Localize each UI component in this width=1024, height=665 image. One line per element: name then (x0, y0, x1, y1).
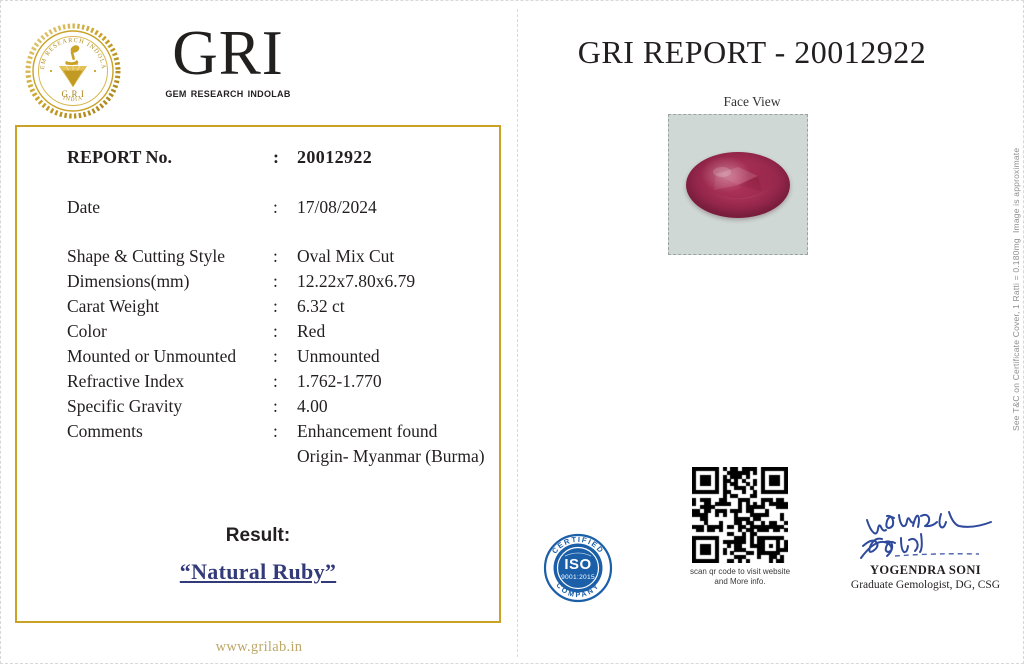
field-value: 1.762-1.770 (297, 369, 487, 394)
report-fields-table: REPORT No. : 20012922 Date : 17/08/2024 … (67, 145, 487, 469)
result-label: Result: (17, 525, 499, 547)
table-row: Dimensions(mm) : 12.22x7.80x6.79 (67, 269, 487, 294)
brand-wordmark: GRI GEM RESEARCH INDOLAB (133, 17, 323, 100)
field-separator: : (273, 419, 297, 444)
table-row: Refractive Index : 1.762-1.770 (67, 369, 487, 394)
field-value: 20012922 (297, 145, 487, 170)
field-value: 4.00 (297, 394, 487, 419)
svg-text:9001:2015: 9001:2015 (561, 574, 595, 581)
field-value: Origin- Myanmar (Burma) (297, 444, 487, 469)
spacer (67, 170, 487, 195)
signature-image (851, 506, 1001, 562)
qr-caption-line1: scan qr code to visit website (687, 567, 793, 577)
gri-seal-icon: GEM RESEARCH INDOLAB INDIA (25, 23, 121, 119)
spacer (67, 220, 487, 244)
field-separator: : (273, 344, 297, 369)
field-value: Enhancement found (297, 419, 487, 444)
certificate-page: GEM RESEARCH INDOLAB INDIA (0, 0, 1024, 664)
qr-caption: scan qr code to visit website and More i… (687, 567, 793, 587)
qr-section: scan qr code to visit website and More i… (687, 467, 793, 587)
field-separator: : (273, 394, 297, 419)
field-label: Comments (67, 419, 273, 444)
qr-code-image[interactable] (692, 467, 788, 563)
table-row: Origin- Myanmar (Burma) (67, 444, 487, 469)
field-separator: : (273, 369, 297, 394)
table-row: Date : 17/08/2024 (67, 195, 487, 220)
field-separator: : (273, 269, 297, 294)
table-row: Mounted or Unmounted : Unmounted (67, 344, 487, 369)
right-panel: GRI REPORT - 20012922 Face View See T&C … (517, 1, 1024, 665)
page-title: GRI REPORT - 20012922 (517, 34, 987, 71)
field-separator: : (273, 145, 297, 170)
field-value: 17/08/2024 (297, 195, 487, 220)
svg-text:G.R.I: G.R.I (62, 89, 85, 99)
svg-text:ISO: ISO (564, 556, 591, 573)
field-separator: : (273, 294, 297, 319)
brand-name: GRI (133, 17, 323, 89)
report-details-box: REPORT No. : 20012922 Date : 17/08/2024 … (15, 125, 501, 623)
result-value: “Natural Ruby” (17, 559, 499, 585)
iso-certified-badge-icon: CERTIFIED COMPANY ISO 9001:2015 (539, 529, 617, 607)
brand-logo-area: GEM RESEARCH INDOLAB INDIA (25, 23, 315, 119)
field-value: Oval Mix Cut (297, 244, 487, 269)
table-row: Color : Red (67, 319, 487, 344)
result-section: Result: “Natural Ruby” (17, 525, 499, 585)
table-row: Specific Gravity : 4.00 (67, 394, 487, 419)
field-separator: : (273, 244, 297, 269)
signatory-title: Graduate Gemologist, DG, CSG (843, 579, 1008, 591)
vertical-note-image: Image is approximate (1011, 148, 1021, 233)
table-row: Shape & Cutting Style : Oval Mix Cut (67, 244, 487, 269)
face-view-label: Face View (517, 94, 987, 110)
qr-caption-line2: and More info. (687, 577, 793, 587)
field-label: Refractive Index (67, 369, 273, 394)
vertical-note-terms: See T&C on Certificate Cover, 1 Ratti = … (1011, 238, 1021, 431)
field-value: 6.32 ct (297, 294, 487, 319)
left-panel: GEM RESEARCH INDOLAB INDIA (1, 1, 517, 665)
field-label: Specific Gravity (67, 394, 273, 419)
signatory-name: YOGENDRA SONI (843, 563, 1008, 578)
field-label: Mounted or Unmounted (67, 344, 273, 369)
table-row: Comments : Enhancement found (67, 419, 487, 444)
gem-facet-lines (686, 152, 790, 218)
field-label: Date (67, 195, 273, 220)
field-value: Unmounted (297, 344, 487, 369)
brand-subtitle: GEM RESEARCH INDOLAB (133, 85, 323, 100)
table-row: Carat Weight : 6.32 ct (67, 294, 487, 319)
field-separator: : (273, 195, 297, 220)
field-label: Shape & Cutting Style (67, 244, 273, 269)
signature-section: YOGENDRA SONI Graduate Gemologist, DG, C… (843, 506, 1008, 591)
gem-photo (668, 114, 808, 255)
field-value: Red (297, 319, 487, 344)
field-label: REPORT No. (67, 145, 273, 170)
field-value: 12.22x7.80x6.79 (297, 269, 487, 294)
gemstone-image (686, 152, 790, 218)
footer-website: www.grilab.in (1, 639, 517, 656)
table-row: REPORT No. : 20012922 (67, 145, 487, 170)
field-label: Dimensions(mm) (67, 269, 273, 294)
field-separator: : (273, 319, 297, 344)
field-label: Carat Weight (67, 294, 273, 319)
field-label: Color (67, 319, 273, 344)
